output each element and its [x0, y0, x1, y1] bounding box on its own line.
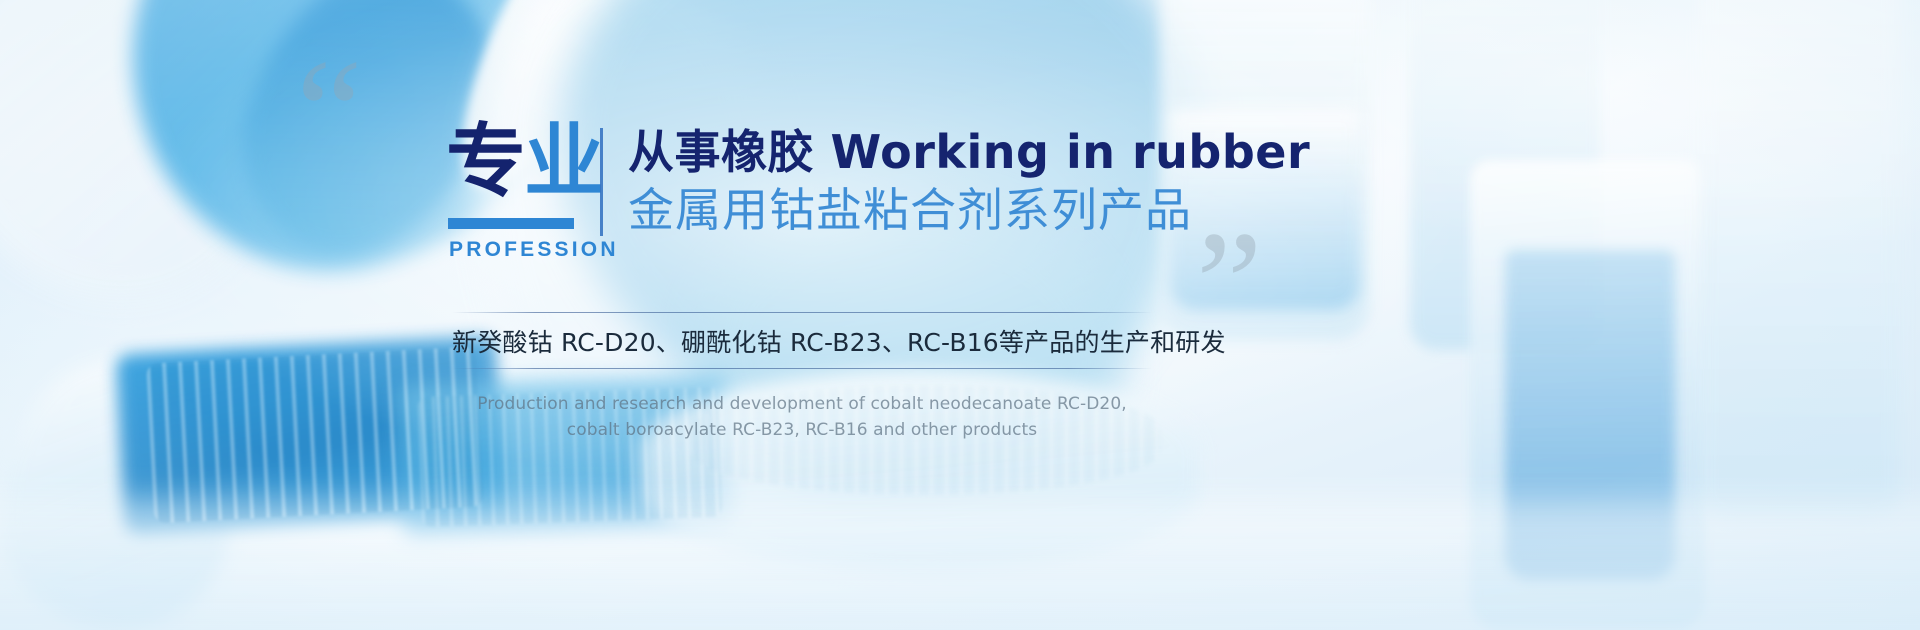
headline-line-1: 从事橡胶 Working in rubber [628, 126, 1328, 179]
headline-line-2: 金属用钴盐粘合剂系列产品 [628, 183, 1328, 237]
logo-chinese-characters: 专业 [446, 122, 622, 214]
headline-block: 从事橡胶 Working in rubber 金属用钴盐粘合剂系列产品 [628, 126, 1328, 238]
headline-vertical-divider [600, 128, 603, 236]
product-line-frame: 新癸酸钴 RC-D20、硼酰化钴 RC-B23、RC-B16等产品的生产和研发 [452, 312, 1152, 369]
profession-logo-lockup: 专业 PROFESSION [446, 122, 622, 290]
product-line-text: 新癸酸钴 RC-D20、硼酰化钴 RC-B23、RC-B16等产品的生产和研发 [452, 313, 1152, 368]
english-subtitle: Production and research and development … [452, 392, 1152, 444]
logo-english-label: PROFESSION [449, 238, 622, 262]
hero-banner: “ ” 专业 PROFESSION 从事橡胶 Working in rubber… [0, 0, 1920, 630]
logo-char-ye: 业 [524, 115, 602, 208]
product-line-rule-bottom [452, 368, 1152, 369]
logo-char-zhuan: 专 [446, 115, 524, 208]
banner-content: 专业 PROFESSION 从事橡胶 Working in rubber 金属用… [0, 0, 1920, 630]
logo-accent-bar [448, 218, 574, 229]
